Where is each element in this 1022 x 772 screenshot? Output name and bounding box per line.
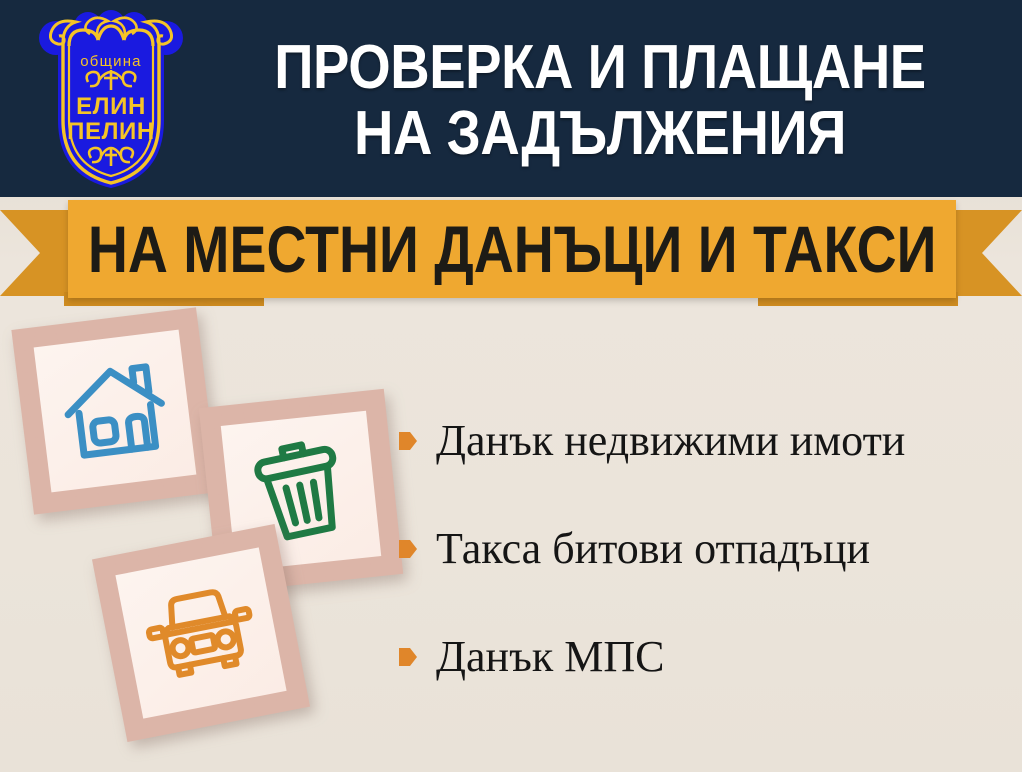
- tax-type-list: Данък недвижими имоти Такса битови отпад…: [398, 418, 1008, 743]
- poster-canvas: ПРОВЕРКА И ПЛАЩАНЕ НА ЗАДЪЛЖЕНИЯ: [0, 0, 1022, 772]
- list-item[interactable]: Данък недвижими имоти: [398, 418, 1008, 464]
- car-icon: [115, 547, 286, 718]
- stamp-card-property: [11, 307, 218, 514]
- house-icon: [34, 330, 197, 493]
- list-item-label: Такса битови отпадъци: [436, 526, 870, 572]
- page-title: ПРОВЕРКА И ПЛАЩАНЕ НА ЗАДЪЛЖЕНИЯ: [239, 18, 961, 183]
- crest-label-top: община: [80, 53, 141, 70]
- arrow-bullet-icon: [398, 537, 418, 561]
- ribbon-label: НА МЕСТНИ ДАНЪЦИ И ТАКСИ: [88, 216, 937, 282]
- crest-label-line2: ПЕЛИН: [67, 118, 155, 145]
- arrow-bullet-icon: [398, 645, 418, 669]
- stamp-card-vehicle: [92, 524, 310, 742]
- crest-label-line1: ЕЛИН: [76, 93, 146, 120]
- list-item[interactable]: Данък МПС: [398, 634, 1008, 680]
- list-item[interactable]: Такса битови отпадъци: [398, 526, 1008, 572]
- ribbon-band: НА МЕСТНИ ДАНЪЦИ И ТАКСИ: [68, 200, 956, 298]
- list-item-label: Данък МПС: [436, 634, 664, 680]
- page-title-line-1: ПРОВЕРКА И ПЛАЩАНЕ: [274, 36, 926, 100]
- ribbon-banner: НА МЕСТНИ ДАНЪЦИ И ТАКСИ: [0, 196, 1022, 311]
- list-item-label: Данък недвижими имоти: [436, 418, 905, 464]
- arrow-bullet-icon: [398, 429, 418, 453]
- municipality-crest-logo: община ЕЛИН ПЕЛИН: [36, 8, 186, 190]
- page-title-line-2: НА ЗАДЪЛЖЕНИЯ: [354, 102, 846, 166]
